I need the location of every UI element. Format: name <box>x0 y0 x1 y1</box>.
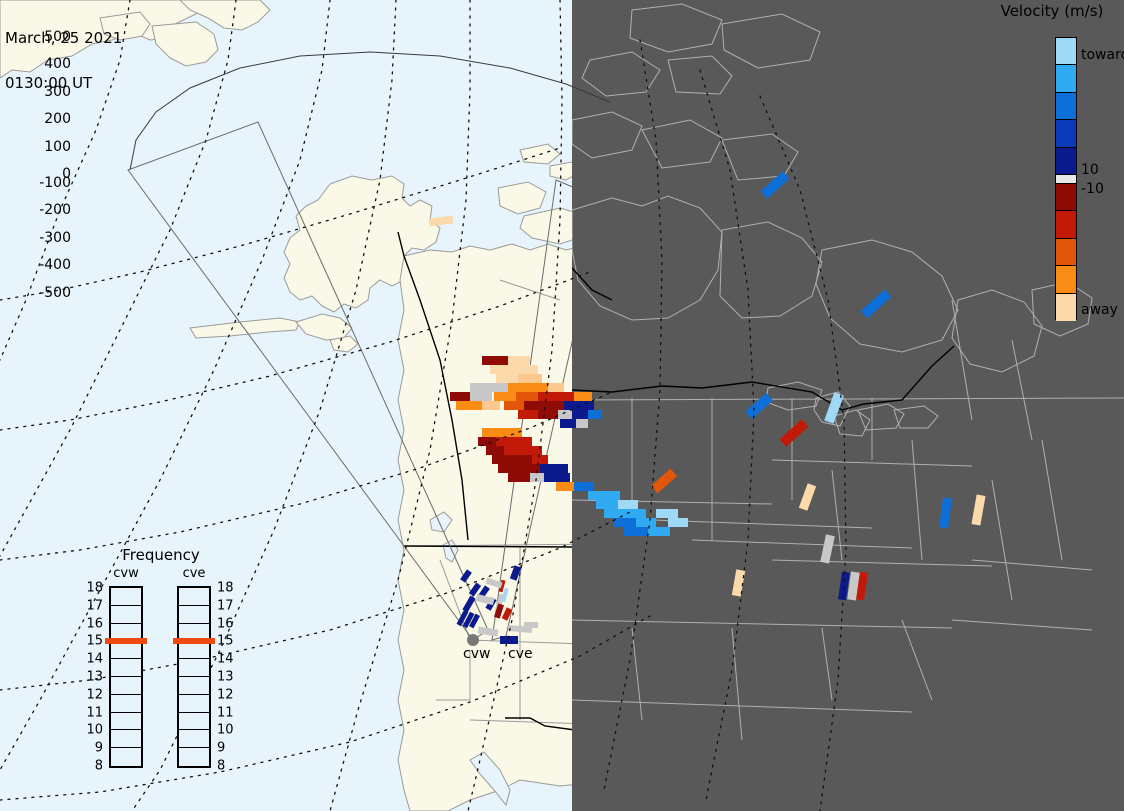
frequency-bar-segment <box>179 659 209 677</box>
colorbar-negative-threshold-label: -10 <box>1081 181 1104 197</box>
frequency-tick-label-left: 17 <box>85 598 103 613</box>
frequency-tick-label-right: 13 <box>217 670 234 685</box>
frequency-bar-segment <box>179 730 209 748</box>
frequency-bar-segment <box>111 677 141 695</box>
frequency-bar-segment <box>111 606 141 624</box>
colorbar-tick-label: -100 <box>39 175 71 191</box>
colorbar-away-label: away <box>1081 302 1118 318</box>
frequency-tick-label-left: 11 <box>85 705 103 720</box>
colorbar-band <box>1056 93 1076 120</box>
colorbar-toward-label: toward <box>1081 47 1124 63</box>
superdarn-map-view: March, 25 2021 0130:00 UT Velocity (m/s)… <box>0 0 1124 811</box>
frequency-tick-label-left: 9 <box>85 741 103 756</box>
frequency-tick-label-right: 14 <box>217 652 234 667</box>
frequency-bar-segment <box>179 713 209 731</box>
colorbar-tick-label: 200 <box>44 111 71 127</box>
colorbar-positive-threshold-label: 10 <box>1081 162 1099 178</box>
frequency-bar-segment <box>111 588 141 606</box>
station-label-cvw: cvw <box>463 646 490 662</box>
frequency-bar-cve <box>177 586 211 768</box>
frequency-marker-cve <box>173 638 215 644</box>
frequency-marker-cvw <box>105 638 147 644</box>
frequency-tick-label-right: 11 <box>217 705 234 720</box>
colorbar-band <box>1056 148 1076 175</box>
frequency-title: Frequency <box>85 546 237 564</box>
colorbar-gradient <box>1055 37 1077 320</box>
colorbar-band <box>1056 38 1076 65</box>
frequency-legend-panel: Frequency cvwcve181817171616151514141313… <box>85 546 237 780</box>
colorbar-band <box>1056 239 1076 266</box>
colorbar-band <box>1056 211 1076 238</box>
frequency-column-header: cve <box>174 566 214 581</box>
frequency-tick-label-right: 10 <box>217 723 234 738</box>
colorbar-tick-label: 500 <box>44 29 71 45</box>
colorbar-band <box>1056 266 1076 293</box>
frequency-tick-label-left: 18 <box>85 581 103 596</box>
frequency-tick-label-right: 17 <box>217 598 234 613</box>
colorbar-band <box>1056 120 1076 147</box>
frequency-bar-segment <box>111 748 141 766</box>
frequency-bar-segment <box>111 695 141 713</box>
colorbar-tick-label: -300 <box>39 230 71 246</box>
frequency-tick-label-left: 16 <box>85 616 103 631</box>
frequency-tick-label-right: 16 <box>217 616 234 631</box>
colorbar-tick-label: 100 <box>44 139 71 155</box>
frequency-tick-label-left: 14 <box>85 652 103 667</box>
frequency-bar-segment <box>111 713 141 731</box>
frequency-bar-segment <box>111 659 141 677</box>
frequency-tick-label-left: 15 <box>85 634 103 649</box>
frequency-bar-cvw <box>109 586 143 768</box>
frequency-tick-label-right: 18 <box>217 581 234 596</box>
colorbar-title: Velocity (m/s) <box>980 2 1124 20</box>
colorbar-tick-label: -200 <box>39 202 71 218</box>
frequency-bar-segment <box>179 677 209 695</box>
colorbar-band <box>1056 65 1076 92</box>
frequency-bar-segment <box>179 588 209 606</box>
frequency-bar-segment <box>179 695 209 713</box>
frequency-column-header: cvw <box>106 566 146 581</box>
frequency-tick-label-left: 13 <box>85 670 103 685</box>
frequency-bar-segment <box>179 748 209 766</box>
frequency-tick-label-right: 9 <box>217 741 225 756</box>
colorbar-tick-label: 400 <box>44 56 71 72</box>
colorbar-band <box>1056 175 1076 184</box>
frequency-tick-label-left: 10 <box>85 723 103 738</box>
frequency-bar-segment <box>179 606 209 624</box>
colorbar-band <box>1056 294 1076 321</box>
frequency-bar-segment <box>111 730 141 748</box>
colorbar-band <box>1056 184 1076 211</box>
station-label-cve: cve <box>508 646 533 662</box>
colorbar-tick-label: 300 <box>44 84 71 100</box>
frequency-tick-label-right: 8 <box>217 759 225 774</box>
frequency-tick-label-left: 12 <box>85 687 103 702</box>
colorbar-tick-label: -400 <box>39 257 71 273</box>
colorbar-tick-label: -500 <box>39 285 71 301</box>
frequency-tick-label-left: 8 <box>85 759 103 774</box>
frequency-tick-label-right: 15 <box>217 634 234 649</box>
frequency-tick-label-right: 12 <box>217 687 234 702</box>
